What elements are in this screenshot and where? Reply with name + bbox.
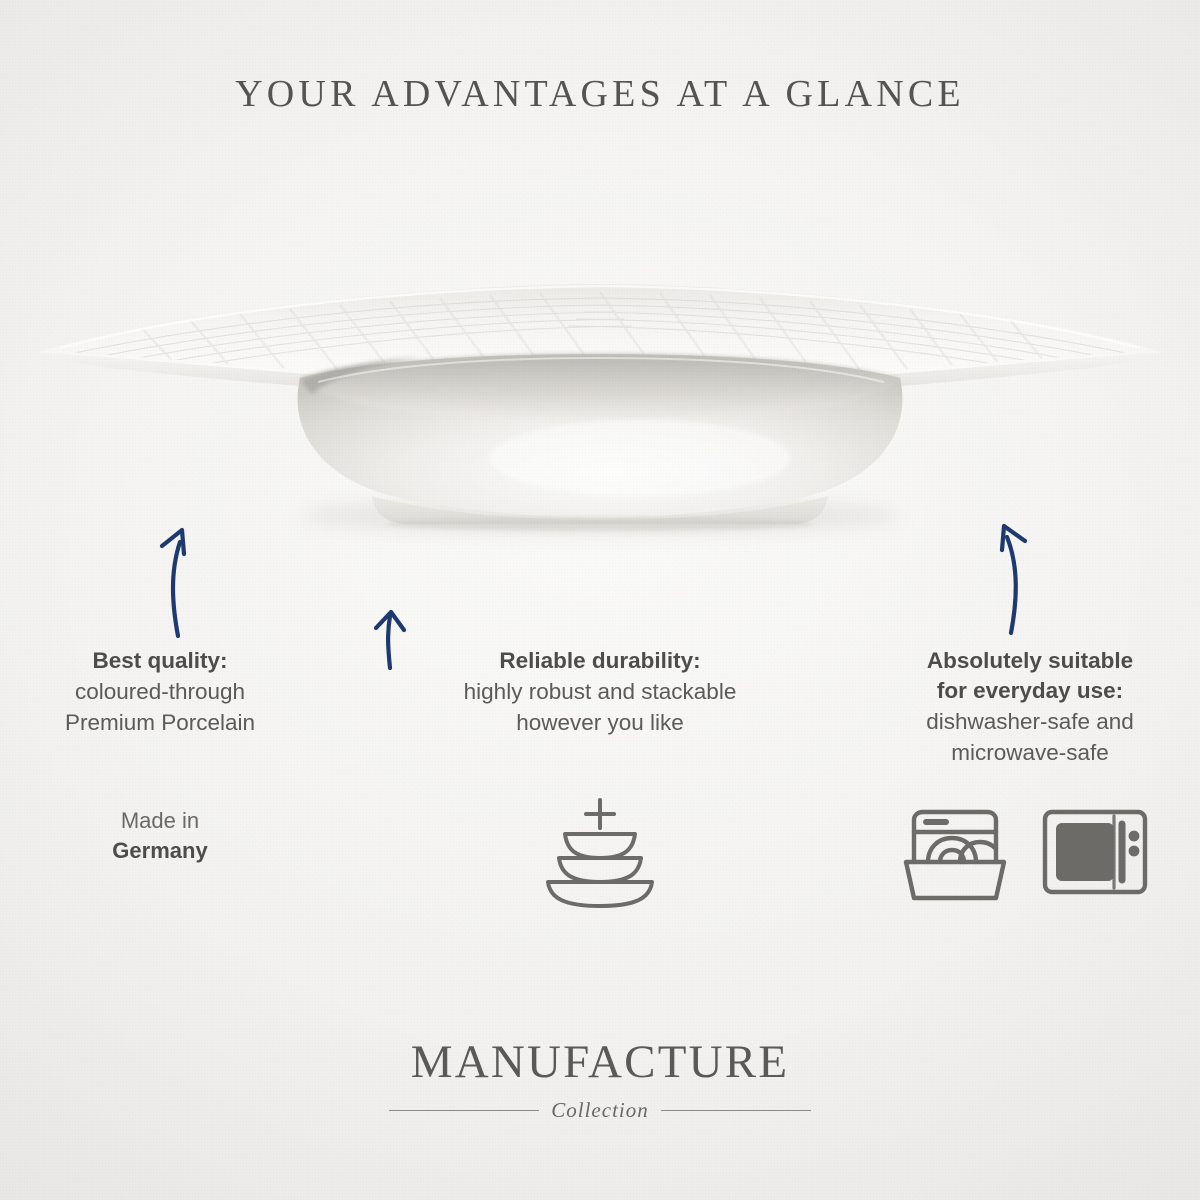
brand-logo-collection: Collection (551, 1098, 649, 1123)
benefit-headline-line-1: Absolutely suitable (880, 646, 1180, 676)
arrow-to-rim-left (140, 508, 210, 643)
arrow-to-rim-right (975, 505, 1045, 640)
plate-contact-shadow (386, 517, 814, 531)
stackable-bowls-icon (530, 788, 670, 913)
dishwasher-safe-icon (900, 800, 1010, 915)
brand-logo-subline: Collection (0, 1098, 1200, 1123)
benefit-headline: Reliable durability: (400, 646, 800, 676)
benefit-headline-line-2: for everyday use: (880, 676, 1180, 706)
benefit-line-1: dishwasher-safe and (880, 706, 1180, 737)
benefit-column-everyday-use: Absolutely suitable for everyday use: di… (880, 646, 1180, 768)
benefit-column-reliable-durability: Reliable durability: highly robust and s… (400, 646, 800, 738)
microwave-safe-icon (1040, 806, 1150, 903)
brand-logo-wordmark: MANUFACTURE (0, 1035, 1200, 1089)
benefit-line-2: however you like (400, 707, 800, 738)
infographic-canvas: YOUR ADVANTAGES AT A GLANCE Best quality… (0, 0, 1200, 1200)
brand-logo: MANUFACTURE Collection (0, 1035, 1200, 1123)
made-in-block: Made in Germany (10, 806, 310, 866)
benefit-line-1: coloured-through (10, 676, 310, 707)
made-in-prefix: Made in (10, 806, 310, 836)
plate-well (298, 354, 903, 518)
page-title: YOUR ADVANTAGES AT A GLANCE (0, 72, 1200, 116)
logo-rule-right (661, 1110, 811, 1111)
benefit-line-2: Premium Porcelain (10, 707, 310, 738)
benefit-column-best-quality: Best quality: coloured-through Premium P… (10, 646, 310, 738)
logo-rule-left (389, 1110, 539, 1111)
made-in-country: Germany (10, 836, 310, 866)
benefit-headline: Best quality: (10, 646, 310, 676)
benefit-line-1: highly robust and stackable (400, 676, 800, 707)
benefit-line-2: microwave-safe (880, 737, 1180, 768)
